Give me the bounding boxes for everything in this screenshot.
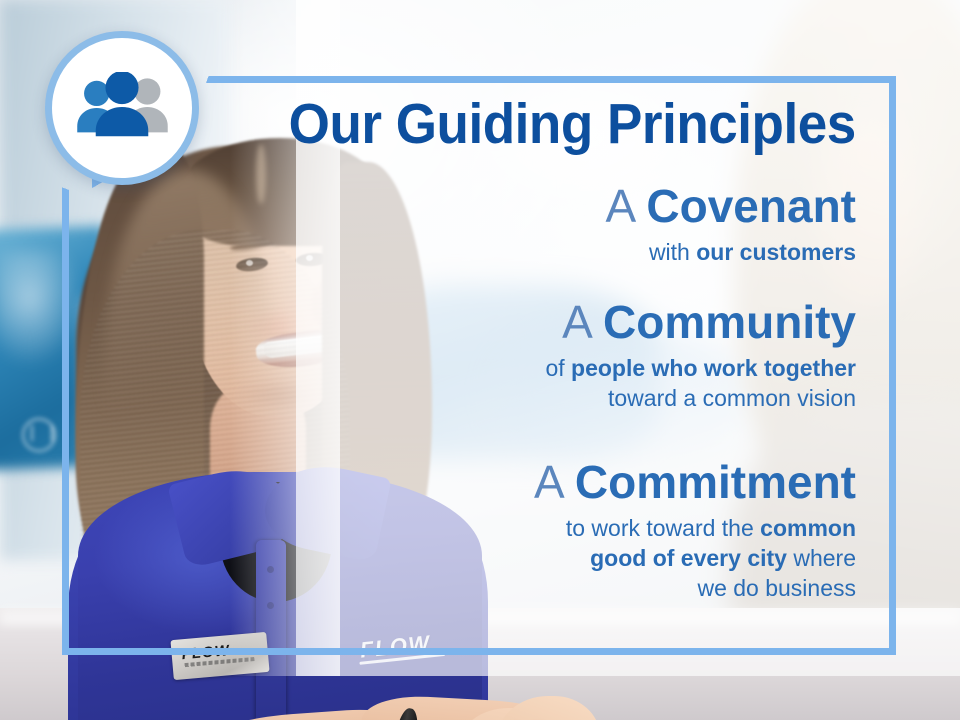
people-badge bbox=[45, 31, 199, 185]
people-group-icon bbox=[73, 72, 171, 144]
poster-canvas: FLOW FLOW bbox=[0, 0, 960, 720]
principle-article: A bbox=[605, 180, 633, 232]
vehicle-brand-logo-icon bbox=[22, 418, 56, 452]
principle-article: A bbox=[534, 456, 562, 508]
frame-border-left bbox=[62, 196, 69, 655]
principle-word: Community bbox=[603, 296, 856, 348]
principle-subtext: to work toward the commongood of every c… bbox=[534, 513, 856, 604]
principle-headline: A Covenant bbox=[605, 182, 856, 231]
principle-article: A bbox=[562, 296, 590, 348]
principle-word: Commitment bbox=[575, 456, 856, 508]
principle-block-community: A Community of people who work togethert… bbox=[545, 298, 856, 413]
text-content: Our Guiding Principles A Covenant with o… bbox=[190, 0, 902, 660]
principle-block-commitment: A Commitment to work toward the commongo… bbox=[534, 458, 856, 604]
principle-subtext: with our customers bbox=[605, 237, 856, 267]
principle-headline: A Community bbox=[545, 298, 856, 347]
page-title: Our Guiding Principles bbox=[289, 96, 856, 153]
principle-subtext: of people who work togethertoward a comm… bbox=[545, 353, 856, 414]
principle-headline: A Commitment bbox=[534, 458, 856, 507]
principle-word: Covenant bbox=[646, 180, 856, 232]
principle-block-covenant: A Covenant with our customers bbox=[605, 182, 856, 267]
